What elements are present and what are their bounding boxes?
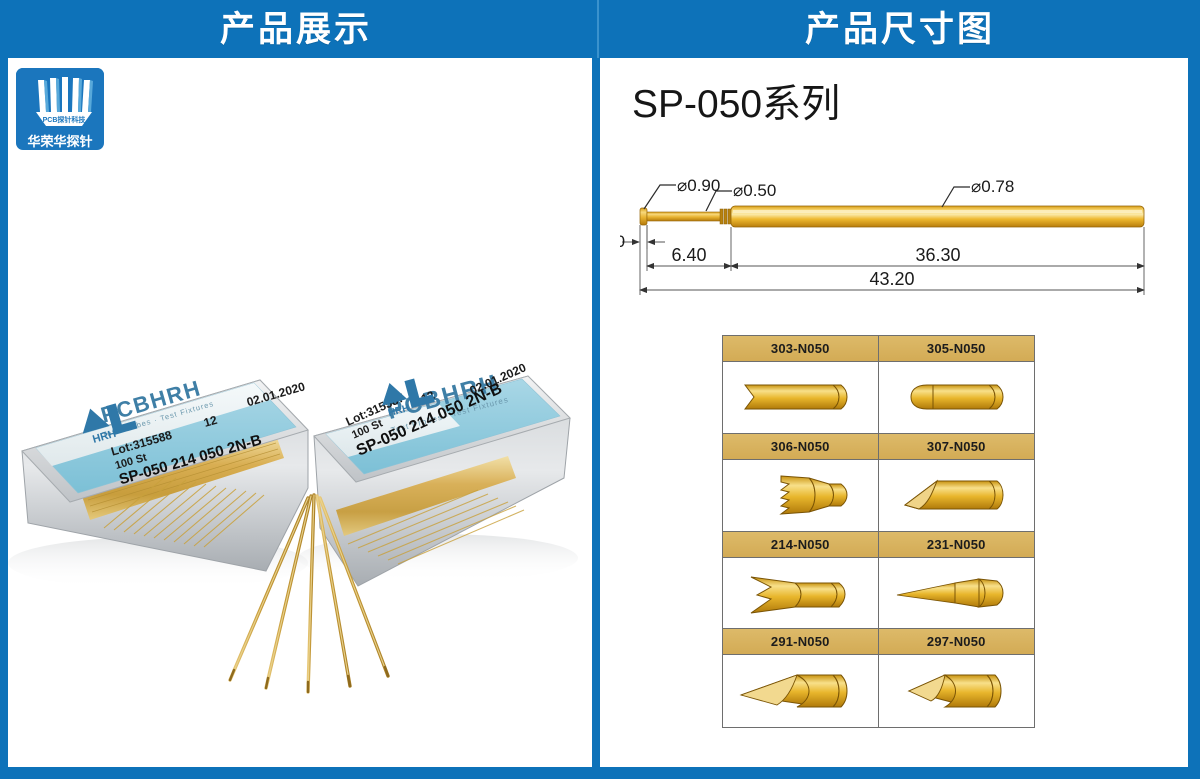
logo-company-name: 华荣华探针	[14, 130, 106, 152]
tip-code-label: 231-N050	[879, 532, 1035, 558]
tip-cell-297[interactable]: 297-N050	[879, 629, 1035, 727]
tip-cell-305[interactable]: 305-N050	[879, 336, 1035, 434]
tip-shape-crown-serrated-icon	[723, 460, 878, 531]
tip-cell-291[interactable]: 291-N050	[723, 629, 879, 727]
tip-shape-needle-point-icon	[879, 558, 1035, 629]
tip-code-label: 305-N050	[879, 336, 1035, 362]
tip-shape-short-spear-icon	[879, 655, 1035, 727]
tip-shape-round-dome-icon	[879, 362, 1035, 433]
frame-border-left	[0, 58, 8, 779]
tip-cell-214[interactable]: 214-N050	[723, 532, 879, 630]
product-showcase-page: 产品展示 产品尺寸图	[0, 0, 1200, 779]
svg-text:PCB探针科技: PCB探针科技	[43, 115, 87, 124]
tip-cell-307[interactable]: 307-N050	[879, 434, 1035, 532]
series-title: SP-050系列	[632, 85, 840, 124]
tip-code-label: 306-N050	[723, 434, 878, 460]
tip-cell-303[interactable]: 303-N050	[723, 336, 879, 434]
dim-tip-diameter: ⌀0.90	[677, 176, 720, 195]
tip-shape-flat-chisel-icon	[723, 362, 878, 433]
product-dimension-panel: SP-050系列	[600, 58, 1188, 767]
tip-type-table: 303-N050 305-N050	[722, 335, 1035, 728]
frame-border-right	[1188, 58, 1200, 779]
dim-total-length: 43.20	[869, 269, 914, 289]
tip-code-label: 297-N050	[879, 629, 1035, 655]
dim-barrel-diameter: ⌀0.78	[971, 177, 1014, 196]
product-display-panel: PCBHRH Test Probes · Test Fixtures Lot:3…	[8, 58, 592, 767]
company-logo: PCB探针科技 华荣华探针	[14, 66, 106, 152]
header-seam-divider	[597, 0, 599, 58]
tip-cell-231[interactable]: 231-N050	[879, 532, 1035, 630]
left-header-title: 产品展示	[220, 12, 372, 47]
dim-barrel-length: 36.30	[915, 245, 960, 265]
tip-cell-306[interactable]: 306-N050	[723, 434, 879, 532]
dimension-drawing: ⌀0.90 ⌀0.50 ⌀0.78 0.50	[620, 163, 1180, 363]
tip-code-label: 214-N050	[723, 532, 878, 558]
frame-border-bottom	[0, 767, 1200, 779]
product-photo: PCBHRH Test Probes · Test Fixtures Lot:3…	[8, 58, 592, 767]
dim-tip-length: 0.50	[620, 232, 625, 251]
tip-shape-double-spear-icon	[723, 558, 878, 629]
dim-front-length: 6.40	[671, 245, 706, 265]
right-panel-header: 产品尺寸图	[600, 0, 1200, 58]
logo-mark-icon: PCB探针科技	[14, 66, 106, 130]
tip-code-label: 307-N050	[879, 434, 1035, 460]
panel-divider	[592, 58, 600, 767]
tip-code-label: 303-N050	[723, 336, 878, 362]
right-header-title: 产品尺寸图	[805, 12, 995, 47]
left-panel-header: 产品展示	[0, 0, 592, 58]
tip-code-label: 291-N050	[723, 629, 878, 655]
tip-shape-bevel-cut-icon	[879, 460, 1035, 531]
tip-shape-long-spear-icon	[723, 655, 878, 727]
dim-shaft-diameter: ⌀0.50	[733, 181, 776, 200]
